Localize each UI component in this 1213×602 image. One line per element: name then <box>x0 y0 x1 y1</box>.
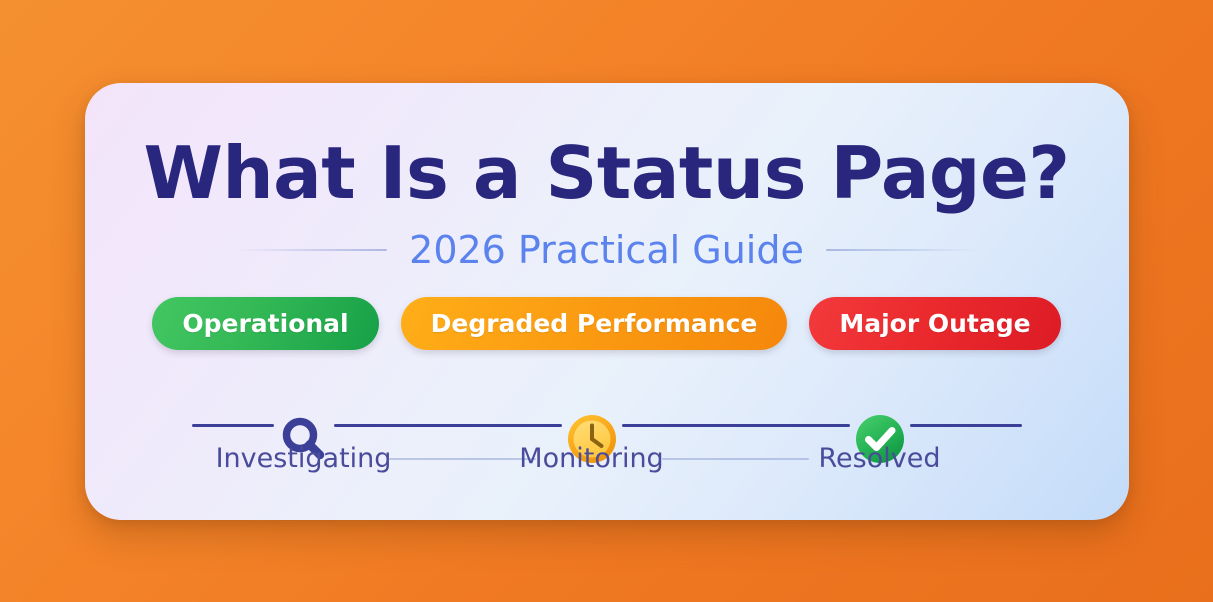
status-badge-operational[interactable]: Operational <box>152 297 378 350</box>
page-subtitle: 2026 Practical Guide <box>409 231 804 269</box>
status-badge-degraded-performance[interactable]: Degraded Performance <box>401 297 788 350</box>
subtitle-rule-left <box>235 249 387 251</box>
subtitle-rule-right <box>826 249 978 251</box>
timeline-rail <box>192 410 1022 442</box>
timeline-rail-segment <box>622 424 850 427</box>
timeline-label-rule <box>389 458 536 460</box>
status-badge-group: Operational Degraded Performance Major O… <box>152 297 1060 350</box>
timeline-rail-segment <box>192 424 274 427</box>
timeline-labels: Investigating Monitoring Resolved <box>192 440 1022 478</box>
timeline-label-resolved: Resolved <box>819 440 941 478</box>
page-title: What Is a Status Page? <box>143 137 1069 209</box>
card-content: What Is a Status Page? 2026 Practical Gu… <box>85 83 1129 520</box>
subtitle-row: 2026 Practical Guide <box>85 231 1129 269</box>
incident-timeline: Investigating Monitoring Resolved <box>192 382 1022 478</box>
timeline-rail-segment <box>334 424 562 427</box>
timeline-rail-segment <box>910 424 1022 427</box>
timeline-label-rule <box>662 458 809 460</box>
status-page-card: What Is a Status Page? 2026 Practical Gu… <box>85 83 1129 520</box>
status-badge-major-outage[interactable]: Major Outage <box>809 297 1060 350</box>
timeline-label-monitoring: Monitoring <box>519 440 663 478</box>
timeline-label-investigating: Investigating <box>216 440 392 478</box>
